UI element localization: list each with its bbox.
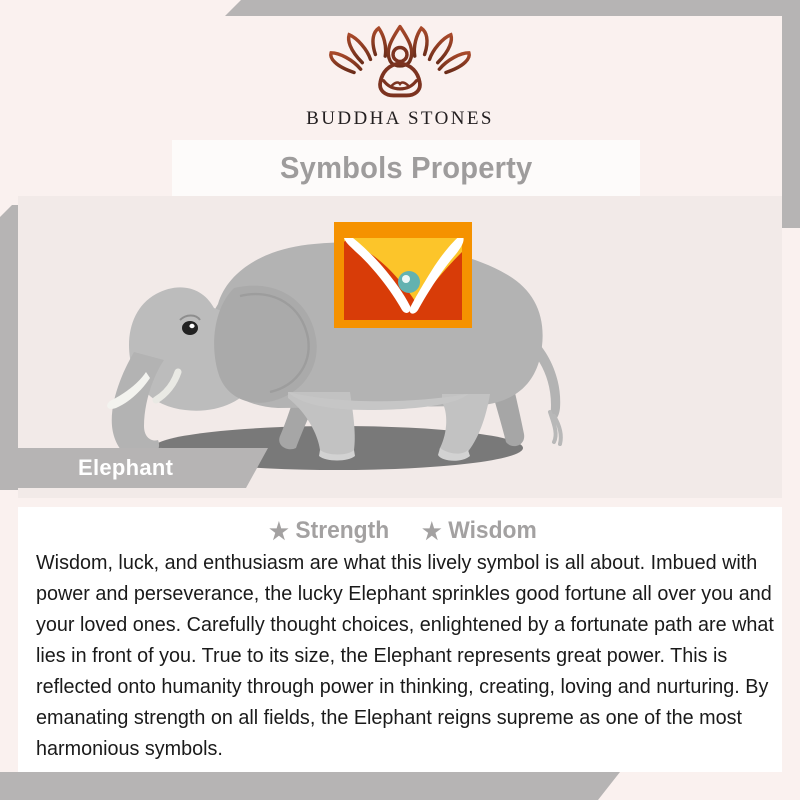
decoration-left-bar (0, 205, 18, 490)
star-icon: ★ (270, 520, 290, 543)
decoration-bottom-bar (0, 772, 620, 800)
saddle-blanket (334, 222, 472, 328)
lotus-meditation-icon (315, 20, 485, 102)
symbol-description: Wisdom, luck, and enthusiasm are what th… (36, 547, 787, 764)
brand-name: BUDDHA STONES (306, 108, 494, 130)
symbol-name-banner: Elephant (18, 448, 268, 488)
star-icon: ★ (422, 520, 442, 543)
symbol-name: Elephant (78, 455, 173, 481)
attribute-list: ★ Strength ★ Wisdom (36, 517, 770, 545)
attribute-label: Wisdom (448, 517, 536, 545)
brand-header: BUDDHA STONES (0, 0, 800, 140)
symbol-info-card: BUDDHA STONES Symbols Property (0, 0, 800, 800)
attribute-label: Strength (296, 517, 390, 545)
page-title: Symbols Property (280, 150, 532, 186)
attribute-wisdom: ★ Wisdom (422, 517, 537, 545)
description-panel: ★ Strength ★ Wisdom Wisdom, luck, and en… (18, 507, 782, 772)
page-title-band: Symbols Property (172, 140, 640, 196)
attribute-strength: ★ Strength (270, 517, 390, 545)
